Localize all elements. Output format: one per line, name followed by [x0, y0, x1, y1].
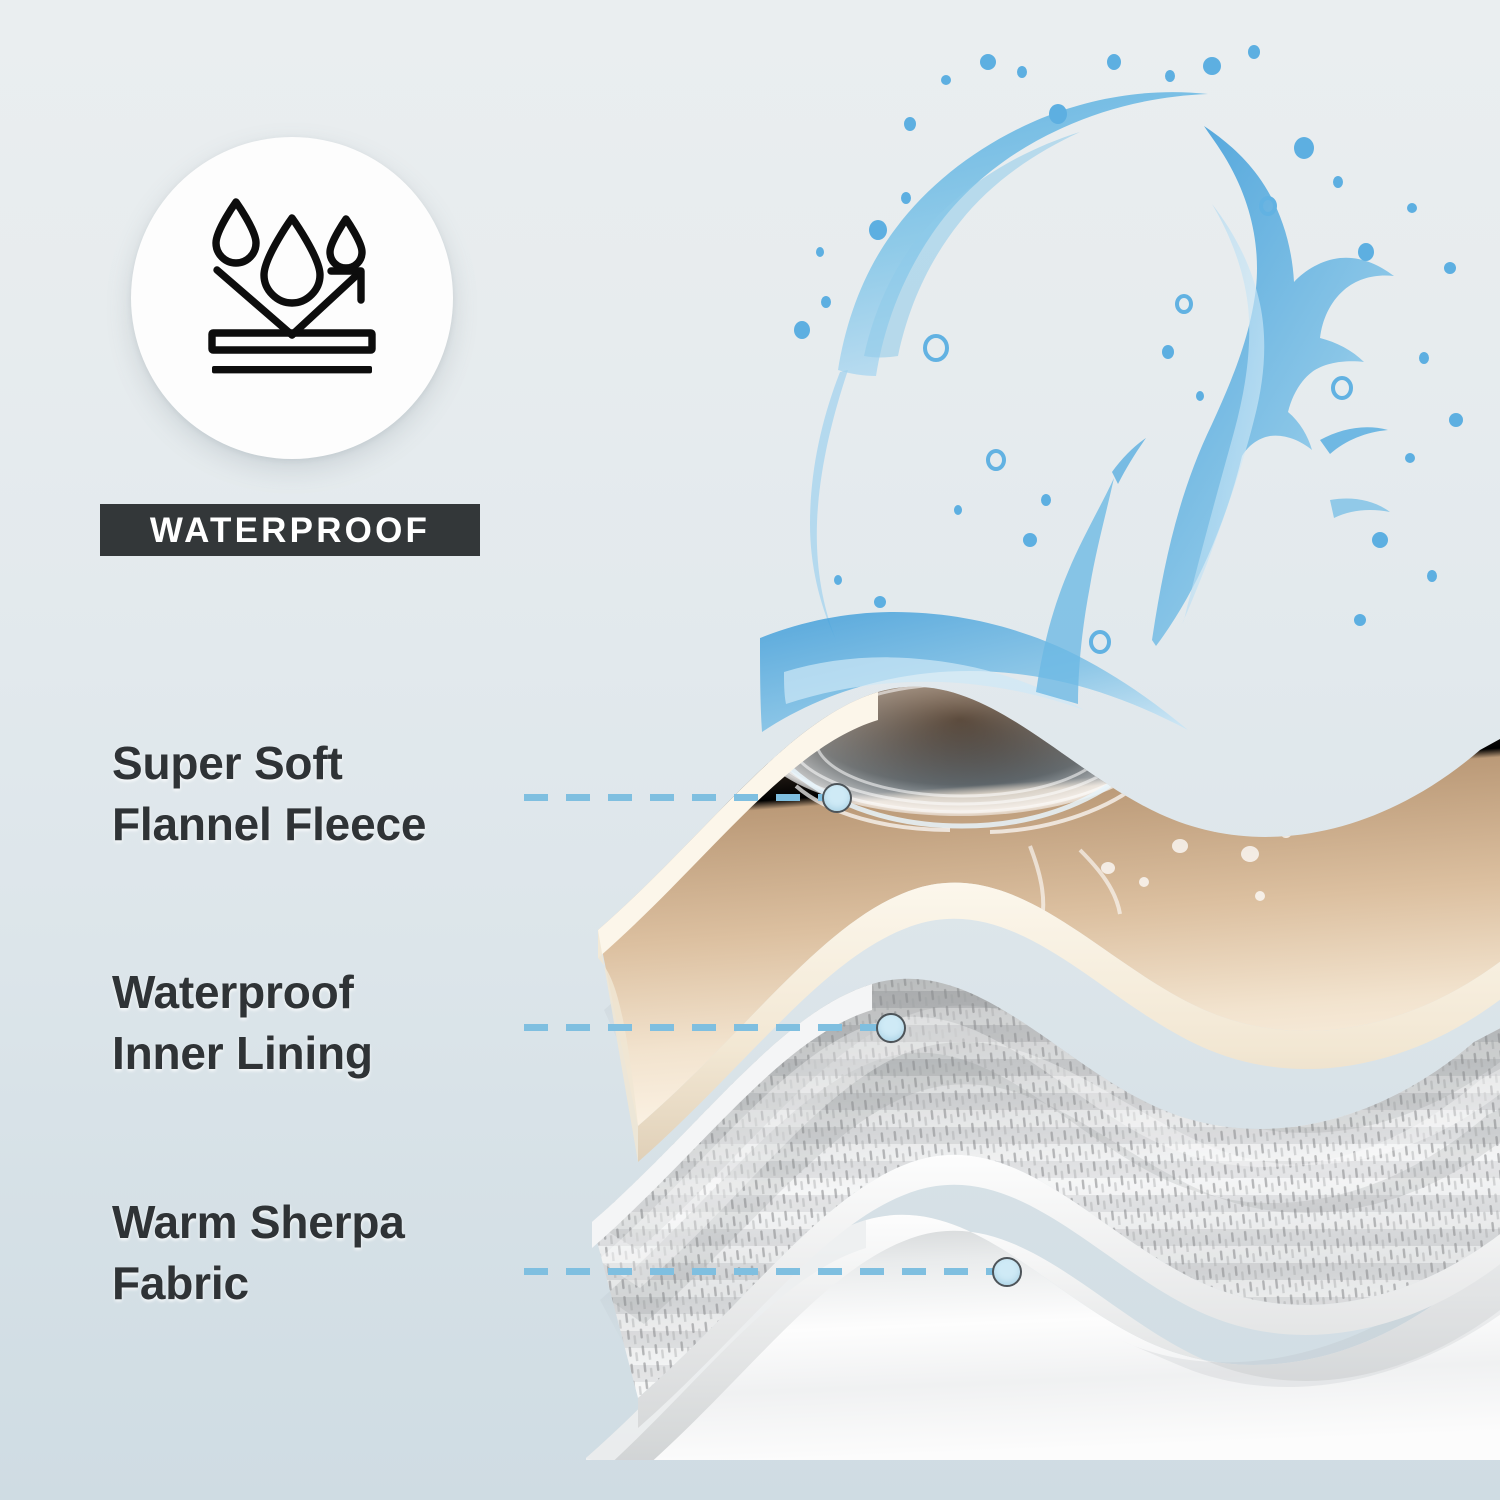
connector-dot-inner-lining — [876, 1013, 906, 1043]
waterproof-badge-circle — [131, 137, 453, 459]
waterproof-surface-icon — [179, 185, 405, 411]
waterproof-badge-label: WATERPROOF — [150, 513, 430, 548]
layer-label-sherpa-fabric: Warm Sherpa Fabric — [112, 1192, 405, 1313]
layer-label-flannel-fleece: Super Soft Flannel Fleece — [112, 733, 426, 854]
connector-line-sherpa-fabric — [524, 1268, 1006, 1275]
connector-line-flannel-fleece — [524, 794, 836, 801]
layer-label-inner-lining: Waterproof Inner Lining — [112, 962, 373, 1083]
infographic-canvas: WATERPROOF Super Soft Flannel Fleece Wat… — [0, 0, 1500, 1500]
connector-line-inner-lining — [524, 1024, 890, 1031]
connector-dot-sherpa-fabric — [992, 1257, 1022, 1287]
waterproof-badge-bar: WATERPROOF — [100, 504, 480, 556]
connector-dot-flannel-fleece — [822, 783, 852, 813]
